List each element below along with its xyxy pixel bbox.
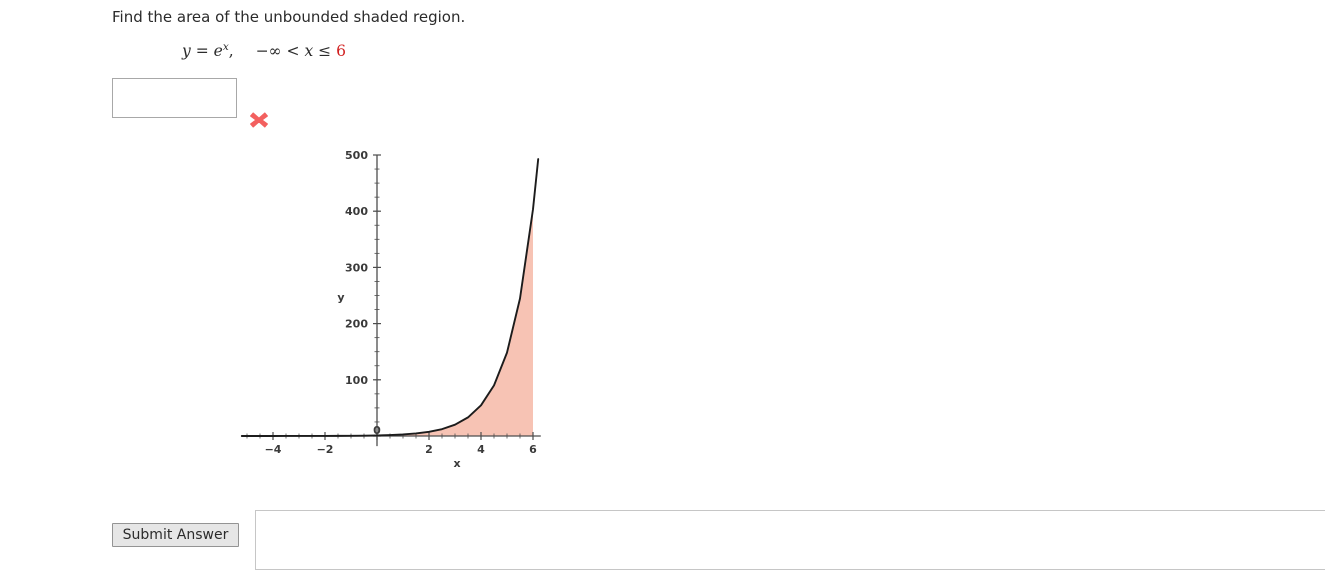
equation-less-than: < (287, 42, 300, 60)
equation-lhs: y (182, 42, 191, 60)
equation-upper-bound: 6 (336, 42, 346, 60)
equation-comma: , (229, 42, 234, 60)
x-tick-label: 6 (529, 443, 537, 456)
answer-feedback-panel (255, 510, 1325, 570)
shaded-region (242, 209, 533, 436)
answer-input[interactable] (112, 78, 237, 118)
equation-less-equal: ≤ (318, 42, 331, 60)
x-tick-label: 2 (425, 443, 433, 456)
graph-figure: −4−20246100200300400500 x y (240, 140, 570, 485)
y-tick-label: 100 (345, 374, 368, 387)
x-axis-label: x (453, 457, 460, 470)
page-title: Find the area of the unbounded shaded re… (112, 8, 465, 26)
equation-base: e (214, 42, 223, 60)
y-tick-label: 400 (345, 205, 368, 218)
x-tick-label: −4 (265, 443, 282, 456)
submit-answer-button[interactable]: Submit Answer (112, 523, 239, 547)
equation-lower-bound: −∞ (256, 42, 282, 60)
x-mark-icon (249, 110, 269, 130)
x-tick-label: 0 (373, 424, 381, 437)
y-tick-label: 500 (345, 149, 368, 162)
x-tick-label: −2 (317, 443, 334, 456)
y-tick-label: 300 (345, 261, 368, 274)
y-tick-label: 200 (345, 318, 368, 331)
x-tick-label: 4 (477, 443, 485, 456)
equation-equals: = (196, 42, 209, 60)
y-axis-label: y (337, 291, 344, 304)
equation-variable: x (304, 42, 313, 60)
exponential-curve-chart: −4−20246100200300400500 x y (240, 140, 570, 485)
equation-statement: y = ex,−∞ < x ≤ 6 (182, 41, 346, 60)
